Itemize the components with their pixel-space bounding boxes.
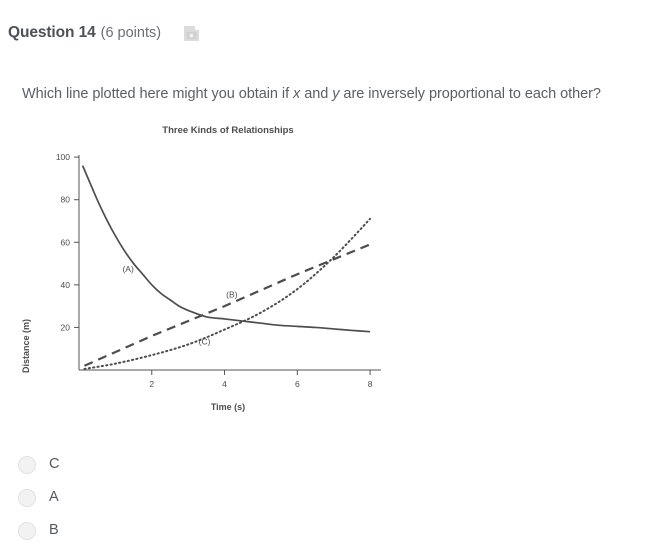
option-row-0[interactable]: C bbox=[18, 448, 318, 481]
chart-y-axis-label: Distance (m) bbox=[21, 319, 31, 373]
svg-text:2: 2 bbox=[149, 379, 154, 389]
chart-x-axis-label: Time (s) bbox=[211, 402, 245, 412]
prompt-text-part3: are inversely proportional to each other… bbox=[339, 86, 600, 102]
svg-text:4: 4 bbox=[222, 379, 227, 389]
radio-button-1[interactable] bbox=[18, 489, 36, 507]
option-row-1[interactable]: A bbox=[18, 481, 318, 514]
chart-series-a bbox=[83, 166, 370, 332]
chart-label-a: (A) bbox=[122, 264, 134, 274]
option-label-1: A bbox=[49, 490, 59, 505]
radio-button-2[interactable] bbox=[18, 522, 36, 540]
svg-text:100: 100 bbox=[56, 152, 70, 162]
svg-text:60: 60 bbox=[61, 237, 71, 247]
svg-text:20: 20 bbox=[61, 322, 71, 332]
chart-y-ticks: 20406080100 bbox=[56, 152, 79, 332]
question-points: (6 points) bbox=[101, 25, 161, 41]
page-title: Question 14 bbox=[8, 24, 96, 42]
chart-x-ticks: 2468 bbox=[149, 370, 372, 389]
svg-text:80: 80 bbox=[61, 195, 71, 205]
option-label-2: B bbox=[49, 523, 59, 538]
svg-text:8: 8 bbox=[368, 379, 373, 389]
relationships-chart: Three Kinds of Relationships Distance (m… bbox=[0, 115, 420, 420]
chart-label-c: (C) bbox=[199, 336, 211, 346]
svg-text:6: 6 bbox=[295, 379, 300, 389]
chart-title: Three Kinds of Relationships bbox=[162, 125, 293, 136]
option-label-0: C bbox=[49, 457, 59, 472]
svg-text:40: 40 bbox=[61, 280, 71, 290]
prompt-text-part2: and bbox=[300, 86, 332, 102]
chart-label-b: (B) bbox=[226, 290, 238, 300]
image-placeholder-icon[interactable] bbox=[183, 25, 200, 42]
chart-axes bbox=[79, 155, 381, 370]
radio-button-0[interactable] bbox=[18, 456, 36, 474]
question-prompt: Which line plotted here might you obtain… bbox=[22, 86, 601, 102]
option-row-2[interactable]: B bbox=[18, 514, 318, 547]
answer-options: C A B bbox=[18, 448, 318, 547]
chart-annotations: (A)(B)(C) bbox=[122, 264, 237, 346]
question-header: Question 14 (6 points) bbox=[8, 21, 200, 45]
prompt-text-part1: Which line plotted here might you obtain… bbox=[22, 86, 293, 102]
